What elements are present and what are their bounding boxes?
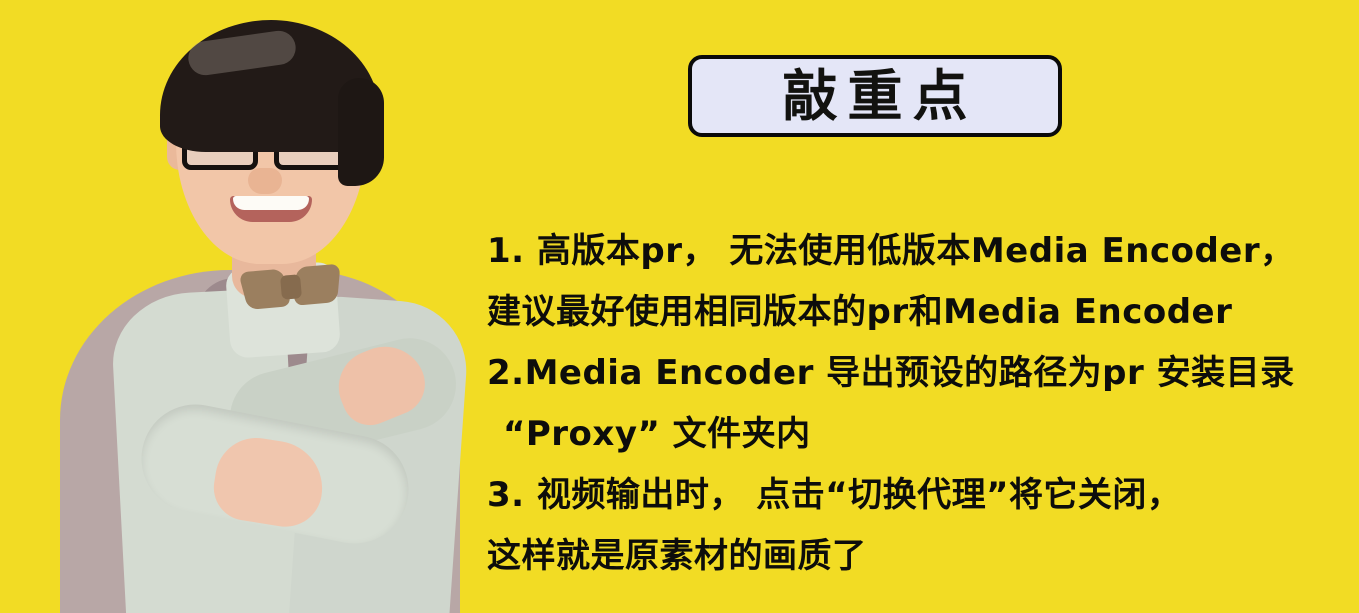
title-plaque: 敲重点 [688,55,1062,137]
copy-line-3: 2.Media Encoder 导出预设的路径为pr 安装目录 [487,343,1307,404]
body-copy: 1. 高版本pr， 无法使用低版本Media Encoder， 建议最好使用相同… [487,221,1307,587]
copy-line-2: 建议最好使用相同版本的pr和Media Encoder [487,282,1307,343]
copy-line-1: 1. 高版本pr， 无法使用低版本Media Encoder， [487,221,1307,282]
copy-line-4: “Proxy” 文件夹内 [487,404,1307,465]
slide-canvas: 敲重点 1. 高版本pr， 无法使用低版本Media Encoder， 建议最好… [0,0,1359,613]
copy-line-6: 这样就是原素材的画质了 [487,526,1307,587]
bowtie-knot [280,274,302,300]
copy-line-5: 3. 视频输出时， 点击“切换代理”将它关闭， [487,465,1307,526]
presenter-photo [0,0,470,613]
smile-mouth [230,196,312,222]
page-title: 敲重点 [772,69,977,124]
